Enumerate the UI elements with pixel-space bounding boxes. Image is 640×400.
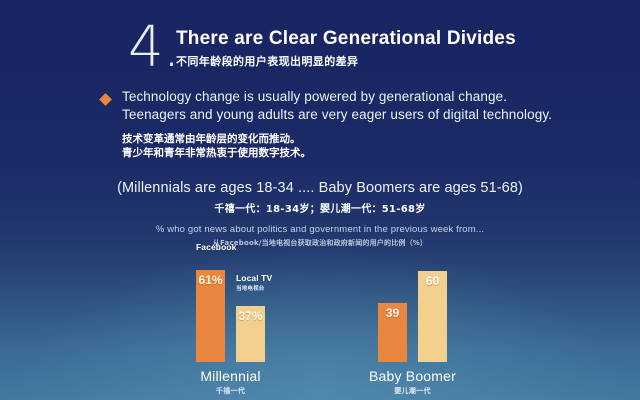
bar-millennial-local-tv[interactable]: 37% xyxy=(236,306,265,362)
series-label-local-tv: Local TV 当地电视台 xyxy=(236,273,272,292)
category-label-millennial-cn: 千禧一代 xyxy=(180,386,281,396)
bullet-line-2: Teenagers and young adults are very eage… xyxy=(122,106,601,124)
bar-baby-boomer-facebook[interactable]: 39 xyxy=(378,303,407,362)
category-label-baby-boomer: Baby Boomer 婴儿潮一代 xyxy=(362,368,463,396)
category-label-baby-boomer-cn: 婴儿潮一代 xyxy=(362,386,463,396)
bullet-line-cn-2: 青少年和青年非常热衷于使用数字技术。 xyxy=(122,146,601,160)
bullet-text-en: Technology change is usually powered by … xyxy=(122,88,601,124)
bar-value-baby-boomer-facebook: 39 xyxy=(386,307,399,362)
page-title: There are Clear Generational Divides xyxy=(176,28,516,50)
bar-millennial-facebook[interactable]: 61% xyxy=(196,270,225,362)
age-note-en: (Millennials are ages 18-34 .... Baby Bo… xyxy=(0,180,640,196)
slide-canvas: 4. There are Clear Generational Divides … xyxy=(0,0,640,400)
series-label-local-tv-text: Local TV xyxy=(236,273,272,283)
bullet-line-cn-1: 技术变革通常由年龄层的变化而推动。 xyxy=(122,132,601,146)
age-note-cn: 千禧一代：18-34岁；婴儿潮一代：51-68岁 xyxy=(0,200,640,215)
bar-value-millennial-facebook: 61% xyxy=(198,274,222,362)
bar-value-millennial-local-tv: 37% xyxy=(238,310,262,362)
bullet-block: Technology change is usually powered by … xyxy=(101,88,601,160)
chart-caption: % who got news about politics and govern… xyxy=(0,224,640,248)
bar-value-baby-boomer-local-tv: 60 xyxy=(426,275,439,362)
category-label-baby-boomer-en: Baby Boomer xyxy=(362,368,463,384)
bullet-text-cn: 技术变革通常由年龄层的变化而推动。 青少年和青年非常热衷于使用数字技术。 xyxy=(122,132,601,160)
title-group: There are Clear Generational Divides 不同年… xyxy=(176,28,516,69)
bullet-line-1: Technology change is usually powered by … xyxy=(122,88,601,106)
bar-baby-boomer-local-tv[interactable]: 60 xyxy=(418,271,447,362)
series-label-facebook: Facebook xyxy=(196,242,236,252)
slide-number: 4. xyxy=(128,20,179,76)
series-label-facebook-text: Facebook xyxy=(196,242,236,252)
orange-diamond-bullet-icon xyxy=(99,93,112,106)
category-label-millennial-en: Millennial xyxy=(180,368,281,384)
chart-subtitle: 从Facebook/当地电视台获取政治和政府新闻的用户的比例（%） xyxy=(0,238,640,248)
chart-title: % who got news about politics and govern… xyxy=(0,224,640,235)
series-label-local-tv-cn: 当地电视台 xyxy=(236,284,272,292)
page-title-translation: 不同年龄段的用户表现出明显的差异 xyxy=(176,53,516,69)
age-definition-note: (Millennials are ages 18-34 .... Baby Bo… xyxy=(0,180,640,215)
category-label-millennial: Millennial 千禧一代 xyxy=(180,368,281,396)
bar-chart: Facebook 61% Local TV 当地电视台 37% Millenni… xyxy=(0,256,640,400)
